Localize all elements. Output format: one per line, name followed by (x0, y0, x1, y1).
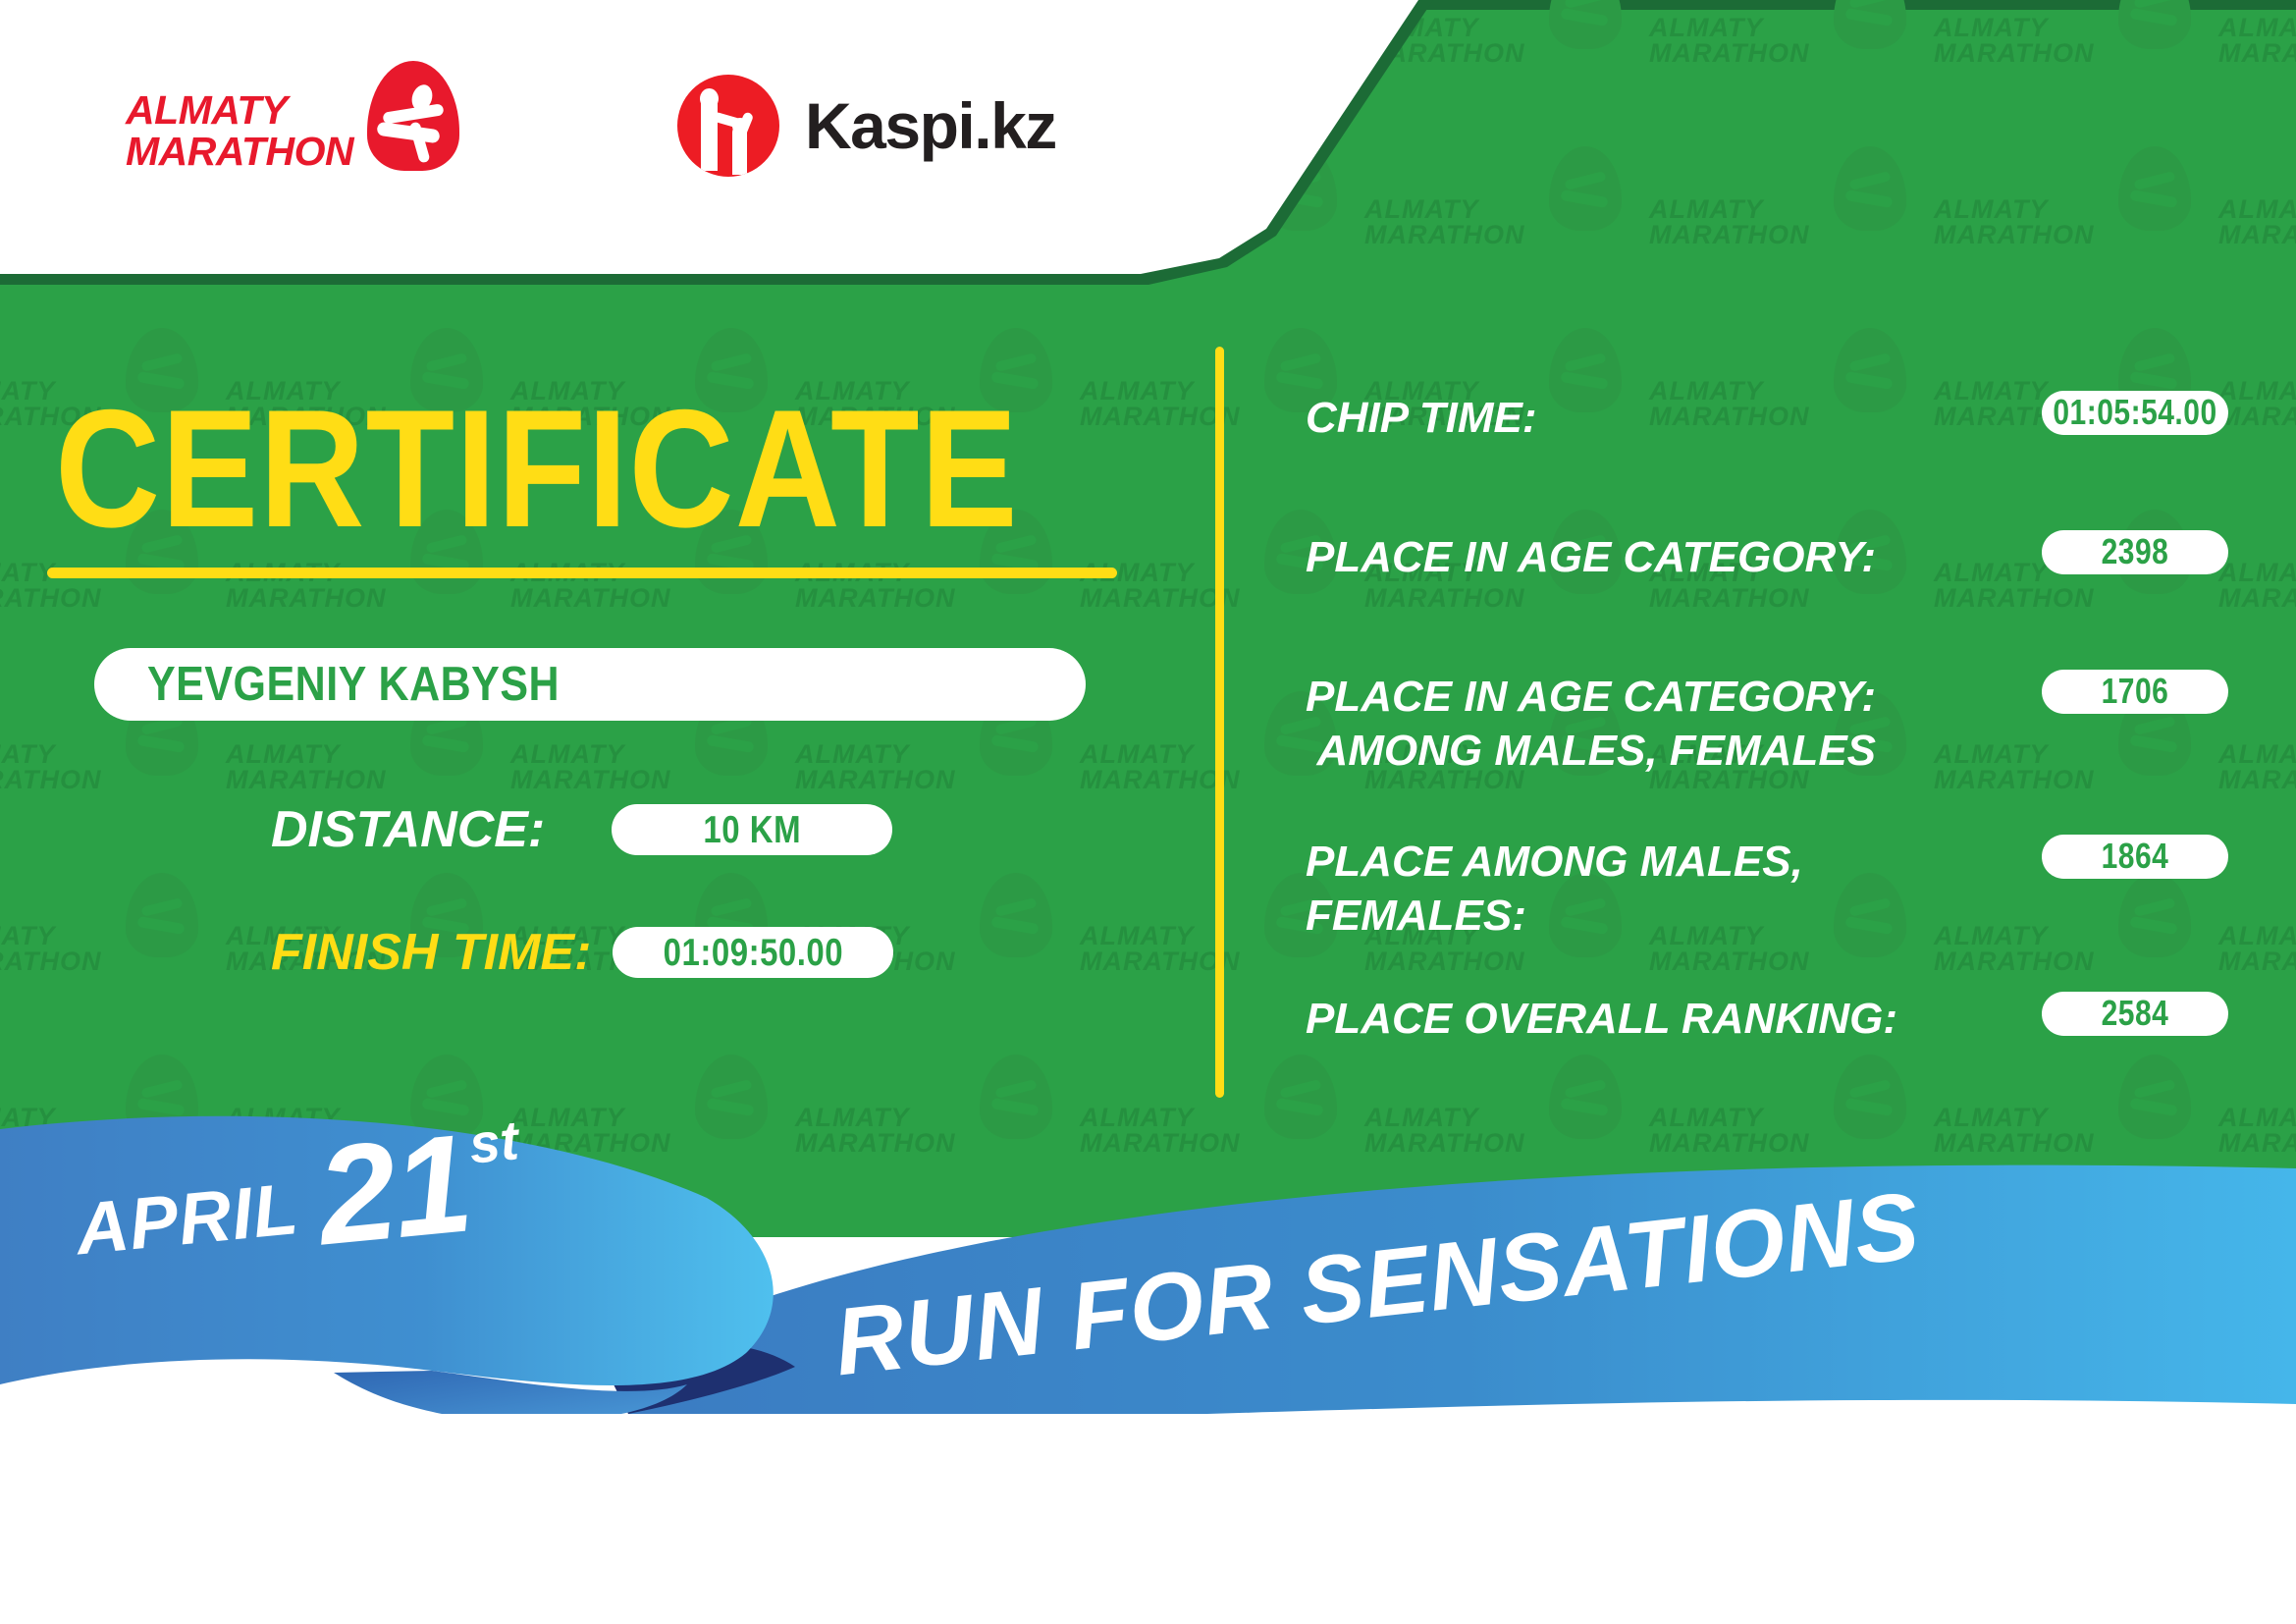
stat-value-pill: 1706 (2042, 670, 2228, 714)
stat-label: PLACE OVERALL RANKING: (1306, 992, 1897, 1046)
distance-value-pill: 10 KM (612, 804, 892, 855)
kaspi-adult-body (701, 96, 718, 171)
distance-row: DISTANCE: 10 KM (271, 800, 892, 859)
stat-label: PLACE IN AGE CATEGORY: (1306, 530, 1876, 584)
almaty-marathon-line1: ALMATY (126, 87, 288, 133)
stat-value: 01:05:54.00 (2053, 393, 2216, 433)
stat-value: 1864 (2102, 837, 2169, 877)
event-month: APRIL (73, 1166, 302, 1271)
stat-value-pill: 1864 (2042, 835, 2228, 879)
participant-name-field: YEVGENIY KABYSH (94, 648, 1086, 721)
finish-time-value-pill: 01:09:50.00 (613, 927, 893, 978)
stat-value-pill: 01:05:54.00 (2042, 391, 2228, 435)
finish-time-label: FINISH TIME: (271, 923, 591, 982)
stat-row-place-age-category-among: PLACE IN AGE CATEGORY: AMONG MALES, FEMA… (1306, 670, 2228, 778)
kaspi-logo-text: Kaspi.kz (805, 88, 1056, 163)
sponsor-bar: Sulpak SANOFI Empowering Life ORIFLAME S… (0, 1414, 2296, 1624)
participant-name-value: YEVGENIY KABYSH (147, 657, 560, 712)
stat-row-place-among-males-females: PLACE AMONG MALES, FEMALES: 1864 (1306, 835, 2228, 943)
header-bar: ALMATYMARATHON Kaspi.kz (0, 0, 1433, 295)
certificate-page: ALMATYMARATHONALMATYMARATHONALMATYMARATH… (0, 0, 2296, 1624)
finish-time-value: 01:09:50.00 (664, 931, 843, 975)
stat-value-pill: 2398 (2042, 530, 2228, 574)
stat-row-place-overall-ranking: PLACE OVERALL RANKING: 2584 (1306, 992, 2228, 1046)
stat-value: 2398 (2102, 532, 2169, 572)
runner-leg-shape (376, 122, 440, 144)
distance-value: 10 KM (703, 808, 801, 852)
stat-value: 2584 (2102, 994, 2169, 1034)
page-title: CERTIFICATE (55, 385, 1019, 553)
stat-label: PLACE AMONG MALES, FEMALES: (1306, 835, 1803, 943)
finish-time-row: FINISH TIME: 01:09:50.00 (271, 923, 893, 982)
almaty-marathon-line2: MARATHON (126, 129, 353, 174)
almaty-marathon-logo: ALMATYMARATHON (126, 61, 459, 184)
stat-value: 1706 (2102, 672, 2169, 712)
vertical-divider (1215, 347, 1224, 1098)
kaspi-logo: Kaspi.kz (677, 75, 1056, 177)
event-day: 21 (313, 1125, 475, 1258)
stat-row-place-age-category: PLACE IN AGE CATEGORY: 2398 (1306, 530, 2228, 584)
title-underline-rule (47, 568, 1117, 578)
runner-teardrop-icon (367, 61, 459, 171)
event-day-suffix: st (466, 1108, 521, 1175)
stat-label: PLACE IN AGE CATEGORY: AMONG MALES, FEMA… (1306, 670, 1876, 778)
stat-label: CHIP TIME: (1306, 391, 1536, 445)
stat-row-chip-time: CHIP TIME: 01:05:54.00 (1306, 391, 2228, 445)
kaspi-people-icon (677, 75, 779, 177)
stat-value-pill: 2584 (2042, 992, 2228, 1036)
distance-label: DISTANCE: (271, 800, 545, 859)
almaty-marathon-logo-text: ALMATYMARATHON (126, 90, 353, 173)
